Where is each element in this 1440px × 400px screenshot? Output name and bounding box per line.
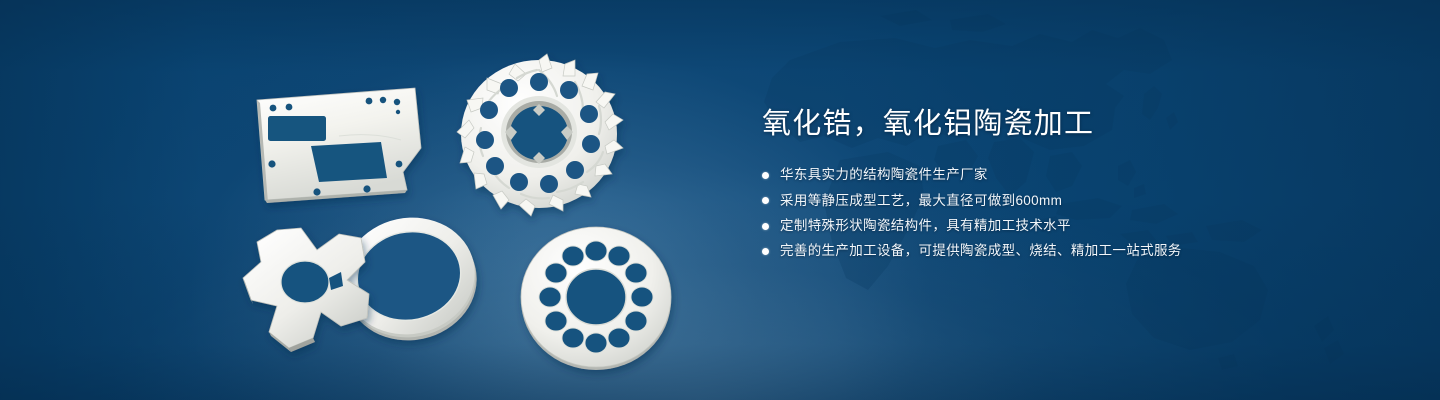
bullet-dot-icon: [762, 248, 769, 255]
ceramic-ring: [332, 206, 487, 353]
banner-headline: 氧化锆，氧化铝陶瓷加工: [762, 108, 1362, 140]
feature-item-3-label: 定制特殊形状陶瓷结构件，具有精加工技术水平: [780, 217, 1071, 235]
ceramic-impeller-disc: [457, 54, 623, 216]
banner-copy: 氧化锆，氧化铝陶瓷加工 华东具实力的结构陶瓷件生产厂家 采用等静压成型工艺，最大…: [762, 108, 1362, 260]
ceramic-products-image: [235, 40, 705, 370]
bullet-dot-icon: [762, 172, 769, 179]
ceramic-perforated-disc: [521, 227, 671, 370]
feature-item-1: 华东具实力的结构陶瓷件生产厂家: [762, 166, 1362, 184]
feature-item-1-label: 华东具实力的结构陶瓷件生产厂家: [780, 166, 988, 184]
ceramic-cross-plate: [243, 228, 369, 352]
bullet-dot-icon: [762, 197, 769, 204]
feature-list: 华东具实力的结构陶瓷件生产厂家 采用等静压成型工艺，最大直径可做到600mm 定…: [762, 166, 1362, 260]
promo-banner: 氧化锆，氧化铝陶瓷加工 华东具实力的结构陶瓷件生产厂家 采用等静压成型工艺，最大…: [0, 0, 1440, 400]
feature-item-4: 完善的生产加工设备，可提供陶瓷成型、烧结、精加工一站式服务: [762, 242, 1362, 260]
ceramic-rectangular-plate: [257, 88, 421, 203]
feature-item-3: 定制特殊形状陶瓷结构件，具有精加工技术水平: [762, 217, 1362, 235]
bullet-dot-icon: [762, 223, 769, 230]
feature-item-4-label: 完善的生产加工设备，可提供陶瓷成型、烧结、精加工一站式服务: [780, 242, 1182, 260]
feature-item-2-label: 采用等静压成型工艺，最大直径可做到600mm: [780, 192, 1062, 210]
feature-item-2: 采用等静压成型工艺，最大直径可做到600mm: [762, 192, 1362, 210]
